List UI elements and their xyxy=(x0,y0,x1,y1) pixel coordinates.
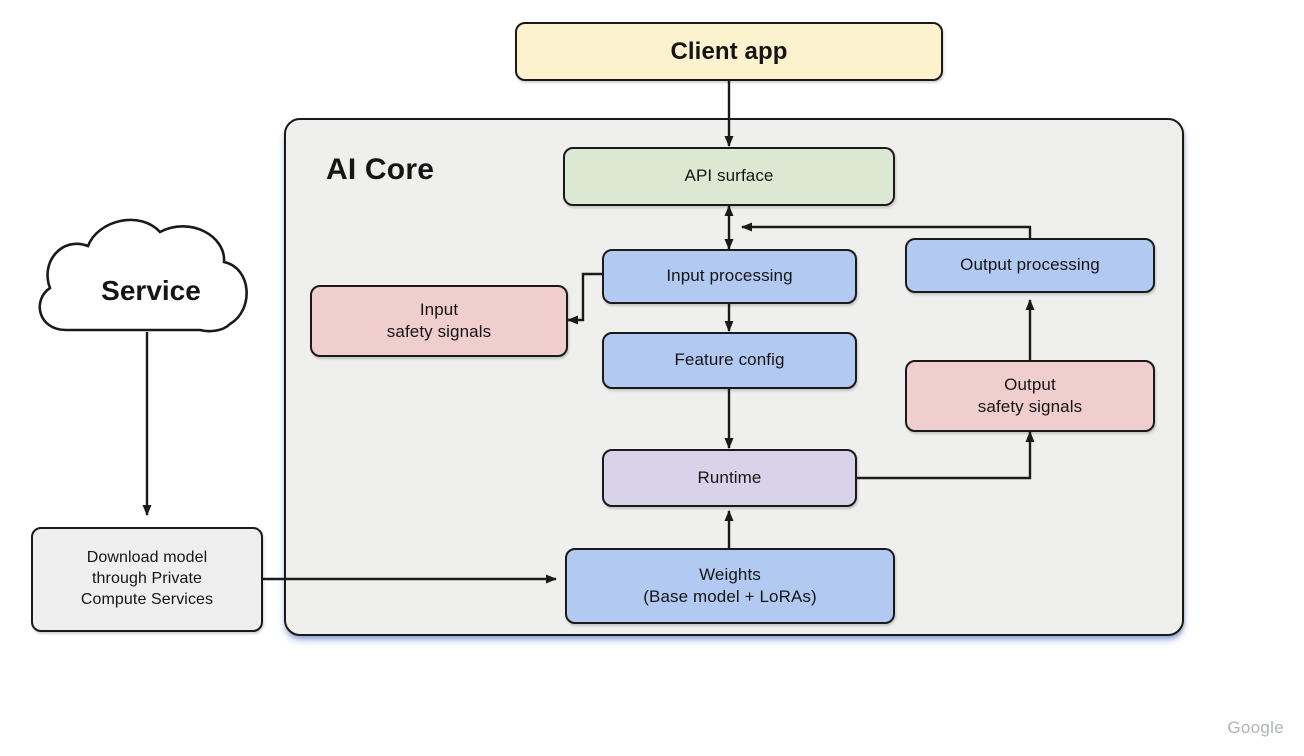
node-feature-config[interactable]: Feature config xyxy=(602,332,857,389)
architecture-diagram: AI Core xyxy=(0,0,1304,756)
node-client-app[interactable]: Client app xyxy=(515,22,943,81)
node-api-surface[interactable]: API surface xyxy=(563,147,895,206)
node-download-model[interactable]: Download model through Private Compute S… xyxy=(31,527,263,632)
google-watermark: Google xyxy=(1227,718,1284,738)
node-output-processing[interactable]: Output processing xyxy=(905,238,1155,293)
edge-input-processing-to-input-safety xyxy=(568,274,602,320)
node-runtime[interactable]: Runtime xyxy=(602,449,857,507)
node-input-safety-signals[interactable]: Input safety signals xyxy=(310,285,568,357)
edge-runtime-to-output-safety xyxy=(857,432,1030,478)
service-label: Service xyxy=(51,275,251,307)
node-output-safety-signals[interactable]: Output safety signals xyxy=(905,360,1155,432)
node-weights[interactable]: Weights (Base model + LoRAs) xyxy=(565,548,895,624)
node-input-processing[interactable]: Input processing xyxy=(602,249,857,304)
